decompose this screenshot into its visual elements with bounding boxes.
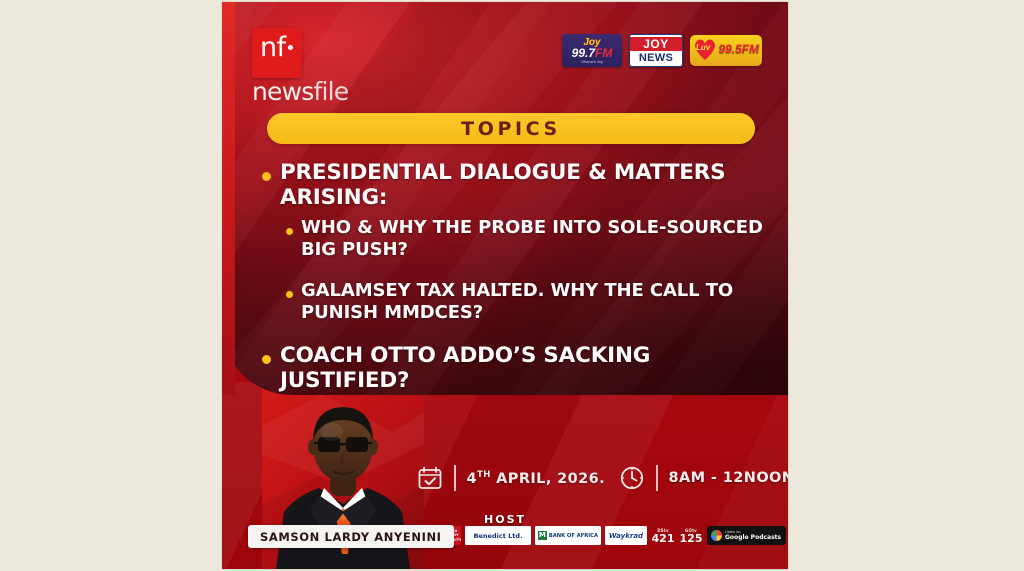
time-item: 8AM - 12NOON <box>619 465 788 491</box>
sponsor-bank-of-africa: MBANK OF AFRICA <box>535 526 601 545</box>
topics-banner: TOPICS <box>267 113 755 144</box>
topic-item: GALAMSEY TAX HALTED. WHY THE CALL TO PUN… <box>286 280 772 324</box>
clock-icon <box>619 465 645 491</box>
joy-997-tagline: Ghana's Joy <box>581 59 603 64</box>
divider <box>656 465 658 491</box>
newsfile-logo: nf newsfile <box>252 28 338 105</box>
page-canvas: HOST SAMSON LARDY ANYENINI nf newsfile J… <box>0 0 1024 571</box>
newsfile-wordmark: newsfile <box>252 79 338 105</box>
divider <box>454 465 456 491</box>
joy-997-frequency: 99.7FM <box>572 47 613 59</box>
bullet-icon <box>286 228 293 235</box>
topic-text: PRESIDENTIAL DIALOGUE & MATTERS ARISING: <box>280 160 772 210</box>
topic-text: GALAMSEY TAX HALTED. WHY THE CALL TO PUN… <box>301 280 772 324</box>
joy-news-line1: JOY <box>630 37 682 51</box>
luv-995-frequency: 99.5FM <box>718 42 759 56</box>
luv-995-fm-logo: Luv 99.5FM <box>690 35 762 66</box>
joy-997-fm-logo: Joy 99.7FM Ghana's Joy <box>562 34 622 67</box>
google-podcasts-badge[interactable]: Listen on Google Podcasts <box>707 526 786 545</box>
panel-left-accent-strip <box>222 2 235 395</box>
calendar-icon <box>417 465 443 491</box>
time-text: 8AM - 12NOON <box>669 470 788 486</box>
gotv-channel-badge: GOtv 125 <box>679 526 703 545</box>
topic-text: WHO & WHY THE PROBE INTO SOLE-SOURCED BI… <box>301 217 772 261</box>
joy-news-logo: JOY NEWS <box>629 34 683 67</box>
date-item: 4TH APRIL, 2026. <box>417 465 605 491</box>
sponsor-benedict-ltd: Benedict Ltd. <box>465 526 531 545</box>
network-logo-row: Joy 99.7FM Ghana's Joy JOY NEWS Luv 99.5… <box>562 34 762 67</box>
host-name-plate: SAMSON LARDY ANYENINI <box>248 525 454 548</box>
dstv-channel-badge: DStv 421 <box>651 526 675 545</box>
schedule-row: 4TH APRIL, 2026. 8AM - 12NOON <box>417 465 788 491</box>
topic-item: WHO & WHY THE PROBE INTO SOLE-SOURCED BI… <box>286 217 772 261</box>
sponsor-strip: GHANA LIBRARY AUTHORITY Benedict Ltd. MB… <box>418 526 788 545</box>
bullet-icon <box>262 355 271 364</box>
bullet-icon <box>286 291 293 298</box>
luv-995-name: Luv <box>696 43 710 52</box>
host-role-label: HOST <box>484 513 526 526</box>
topics-list: PRESIDENTIAL DIALOGUE & MATTERS ARISING:… <box>262 160 772 400</box>
joy-news-line2: NEWS <box>630 51 682 65</box>
bullet-icon <box>262 172 271 181</box>
google-podcasts-icon <box>711 530 722 541</box>
wordmark-file: file <box>314 77 349 106</box>
newsfile-logo-initials: nf <box>260 32 286 63</box>
newsfile-logo-mark: nf <box>252 28 302 78</box>
topic-text: COACH OTTO ADDO’S SACKING JUSTIFIED? <box>280 343 772 393</box>
topics-banner-label: TOPICS <box>461 118 561 140</box>
newsfile-logo-dot <box>288 45 293 50</box>
sponsor-waykrad: Waykrad <box>605 526 647 545</box>
topic-item: PRESIDENTIAL DIALOGUE & MATTERS ARISING: <box>262 160 772 210</box>
boa-monogram: M <box>538 531 547 540</box>
wordmark-news: news <box>252 77 314 106</box>
topic-item: COACH OTTO ADDO’S SACKING JUSTIFIED? <box>262 343 772 393</box>
date-text: 4TH APRIL, 2026. <box>467 470 606 487</box>
newsfile-topics-poster: HOST SAMSON LARDY ANYENINI nf newsfile J… <box>222 2 788 569</box>
